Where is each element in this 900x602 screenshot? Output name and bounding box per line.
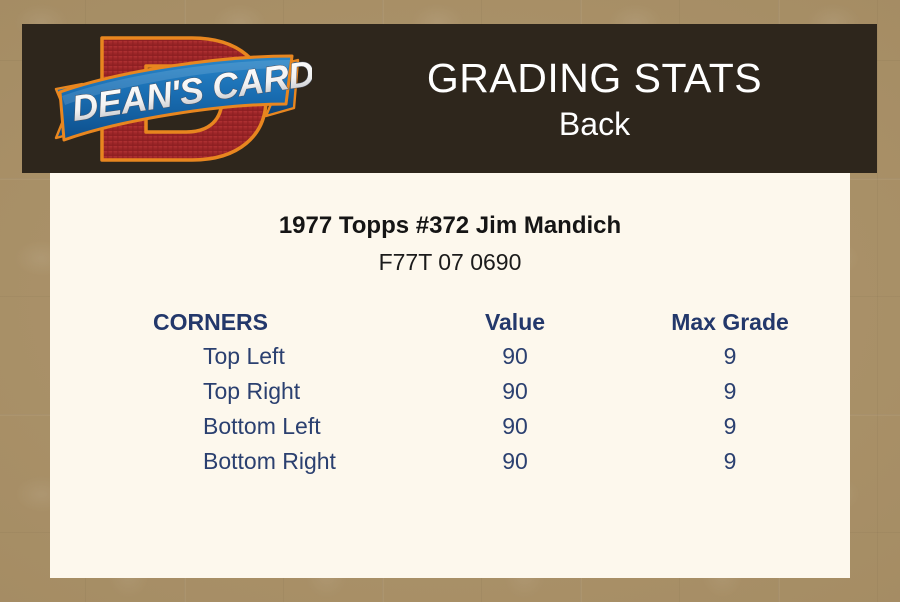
row-max-grade: 9 [610, 444, 850, 479]
header-bar: DEAN'S CARDS GRADING STATS Back [22, 24, 877, 173]
page-title: GRADING STATS [427, 54, 762, 102]
row-value: 90 [420, 374, 610, 409]
row-value: 90 [420, 339, 610, 374]
row-value: 90 [420, 409, 610, 444]
column-header-corners: CORNERS [50, 305, 420, 339]
row-label: Bottom Left [50, 409, 420, 444]
table-row: Top Right 90 9 [50, 374, 850, 409]
table-body: Top Left 90 9 Top Right 90 9 Bottom Left… [50, 339, 850, 479]
card-title: 1977 Topps #372 Jim Mandich [50, 211, 850, 241]
row-max-grade: 9 [610, 374, 850, 409]
row-value: 90 [420, 444, 610, 479]
table-header: CORNERS Value Max Grade [50, 305, 850, 339]
header-title-group: GRADING STATS Back [312, 24, 877, 173]
table-row: Bottom Left 90 9 [50, 409, 850, 444]
row-label: Top Left [50, 339, 420, 374]
deans-cards-logo[interactable]: DEAN'S CARDS [42, 26, 312, 172]
grading-stats-page: DEAN'S CARDS GRADING STATS Back 1977 Top… [0, 0, 900, 602]
column-header-max-grade: Max Grade [610, 305, 850, 339]
row-label: Bottom Right [50, 444, 420, 479]
content-panel: 1977 Topps #372 Jim Mandich F77T 07 0690… [50, 173, 850, 578]
row-max-grade: 9 [610, 409, 850, 444]
card-id: F77T 07 0690 [50, 247, 850, 277]
row-label: Top Right [50, 374, 420, 409]
grading-stats-table: CORNERS Value Max Grade Top Left 90 9 To… [50, 305, 850, 479]
column-header-value: Value [420, 305, 610, 339]
row-max-grade: 9 [610, 339, 850, 374]
table-header-row: CORNERS Value Max Grade [50, 305, 850, 339]
page-subtitle: Back [559, 104, 630, 144]
table-row: Bottom Right 90 9 [50, 444, 850, 479]
table-row: Top Left 90 9 [50, 339, 850, 374]
